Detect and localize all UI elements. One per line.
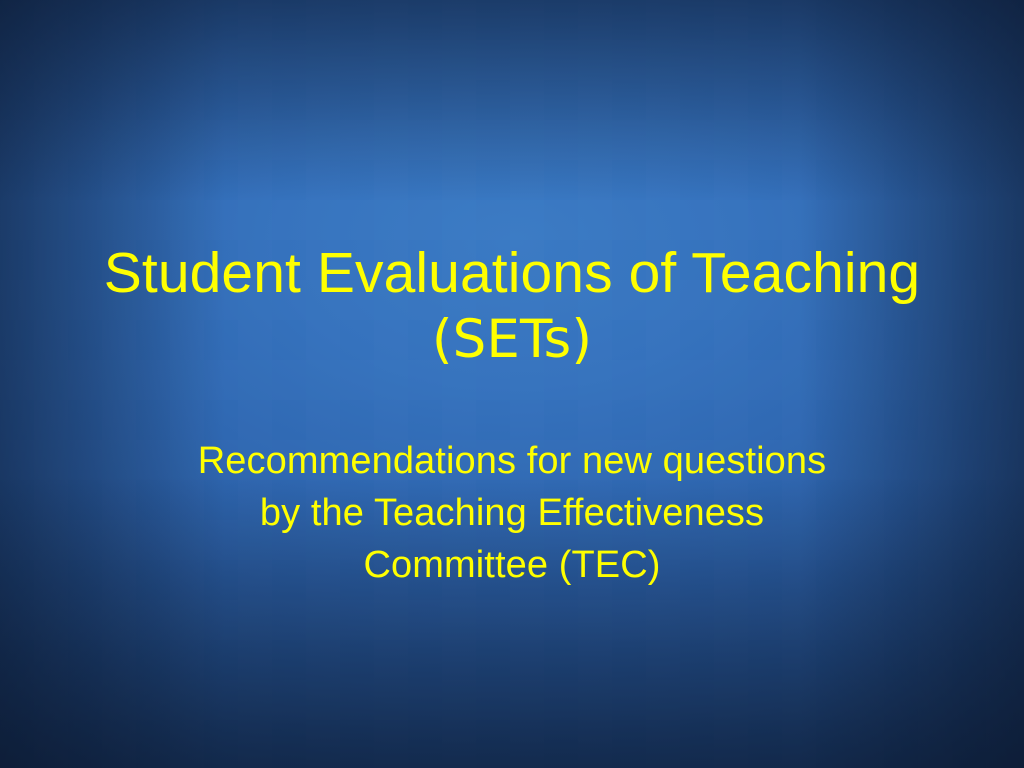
slide-subtitle-line-1: Recommendations for new questions [0, 435, 1024, 487]
slide-subtitle: Recommendations for new questions by the… [0, 435, 1024, 591]
slide-subtitle-line-3: Committee (TEC) [0, 539, 1024, 591]
slide-title-line-2: (SETs) [0, 303, 1024, 377]
slide-content: Student Evaluations of Teaching (SETs) R… [0, 0, 1024, 768]
slide-title-line-1: Student Evaluations of Teaching [0, 243, 1024, 303]
slide-title: Student Evaluations of Teaching (SETs) [0, 243, 1024, 377]
slide-subtitle-line-2: by the Teaching Effectiveness [0, 487, 1024, 539]
presentation-slide: Student Evaluations of Teaching (SETs) R… [0, 0, 1024, 768]
